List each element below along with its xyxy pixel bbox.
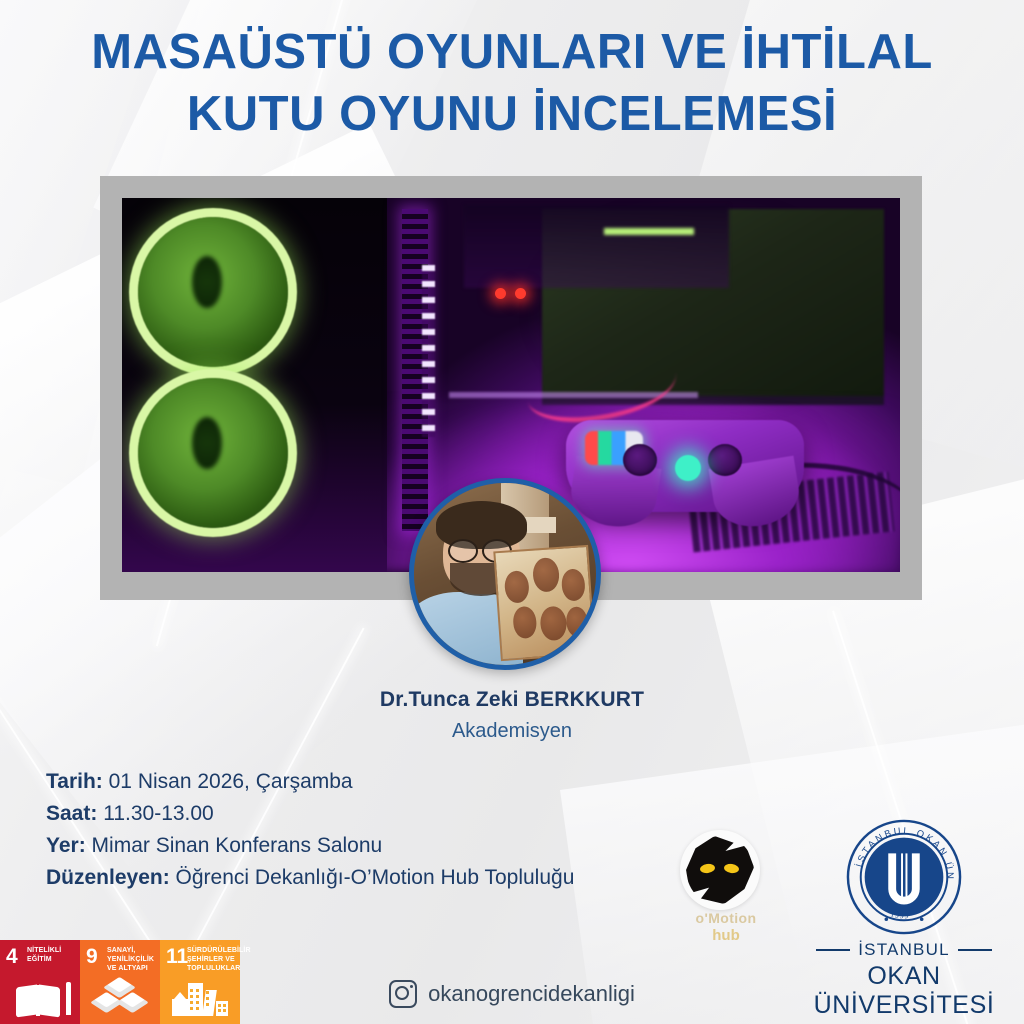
fan-hub <box>192 417 222 469</box>
detail-value-yer: Mimar Sinan Konferans Salonu <box>92 834 383 857</box>
sdg-number-11: 11 <box>166 946 188 967</box>
instagram-icon[interactable] <box>389 980 417 1008</box>
detail-row-duzenleyen: Düzenleyen: Öğrenci Dekanlığı-O’Motion H… <box>46 862 574 894</box>
detail-value-tarih: 01 Nisan 2026, Çarşamba <box>109 770 353 793</box>
detail-label-tarih: Tarih: <box>46 770 103 793</box>
detail-value-saat: 11.30-13.00 <box>103 802 214 825</box>
vent-led-column <box>422 265 435 437</box>
sdg-label-9: SANAYİ, YENİLİKÇİLİKVE ALTYAPI <box>107 947 156 973</box>
event-details: Tarih: 01 Nisan 2026, Çarşamba Saat: 11.… <box>46 766 574 895</box>
red-led-indicators <box>495 288 526 299</box>
university-name-line1: İSTANBUL <box>806 940 1002 960</box>
speaker-role: Akademisyen <box>0 720 1024 743</box>
sdg-label-11: SÜRDÜRÜLEBİLİRŞEHİRLER VETOPLULUKLAR <box>187 947 236 973</box>
detail-row-yer: Yer: Mimar Sinan Konferans Salonu <box>46 830 574 862</box>
detail-label-saat: Saat: <box>46 802 97 825</box>
title-line-2: KUTU OYUNU İNCELEMESİ <box>0 84 1024 146</box>
building-window <box>223 1009 226 1012</box>
green-led-strip <box>604 228 694 235</box>
rgb-fan-top <box>138 217 288 367</box>
detail-row-saat: Saat: 11.30-13.00 <box>46 798 574 830</box>
detail-label-duzenleyen: Düzenleyen: <box>46 866 170 889</box>
sdg-number-4: 4 <box>6 946 18 967</box>
gamepad-stick-right <box>708 444 742 476</box>
instagram-handle-block[interactable]: okanogrencidekanligi <box>0 980 1024 1008</box>
gamepad-body <box>566 420 804 512</box>
omotion-wordmark-line2: hub <box>674 927 778 944</box>
university-seal-icon: İSTANBUL OKAN ÜNİVERSİTESİ 1999 <box>845 818 963 936</box>
gamepad-home-light <box>675 455 701 481</box>
pc-interior-shadow <box>464 205 729 287</box>
sdg-number-9: 9 <box>86 946 98 967</box>
detail-label-yer: Yer: <box>46 834 86 857</box>
instagram-handle[interactable]: okanogrencidekanligi <box>428 981 635 1007</box>
detail-row-tarih: Tarih: 01 Nisan 2026, Çarşamba <box>46 766 574 798</box>
board-game-box <box>494 545 596 661</box>
speaker-name: Dr.Tunca Zeki BERKKURT <box>0 688 1024 712</box>
title-line-1: MASAÜSTÜ OYUNLARI VE İHTİLAL <box>0 22 1024 84</box>
omotion-wordmark-line1: o'Motion <box>674 910 778 926</box>
event-poster: MASAÜSTÜ OYUNLARI VE İHTİLAL KUTU OYUNU … <box>0 0 1024 1024</box>
building-window <box>218 1009 221 1012</box>
gamepad-stick-left <box>623 444 657 476</box>
detail-value-duzenleyen: Öğrenci Dekanlığı-O’Motion Hub Topluluğu <box>176 866 575 889</box>
sdg-label-4: NİTELİKLİEĞİTİM <box>27 947 76 965</box>
avatar <box>409 478 601 670</box>
poster-title: MASAÜSTÜ OYUNLARI VE İHTİLAL KUTU OYUNU … <box>0 22 1024 145</box>
rgb-fan-bottom <box>138 378 288 528</box>
omotion-hub-logo: o'Motion hub <box>674 830 778 946</box>
fan-hub <box>192 256 222 308</box>
speaker-info: Dr.Tunca Zeki BERKKURT Akademisyen <box>0 688 1024 743</box>
